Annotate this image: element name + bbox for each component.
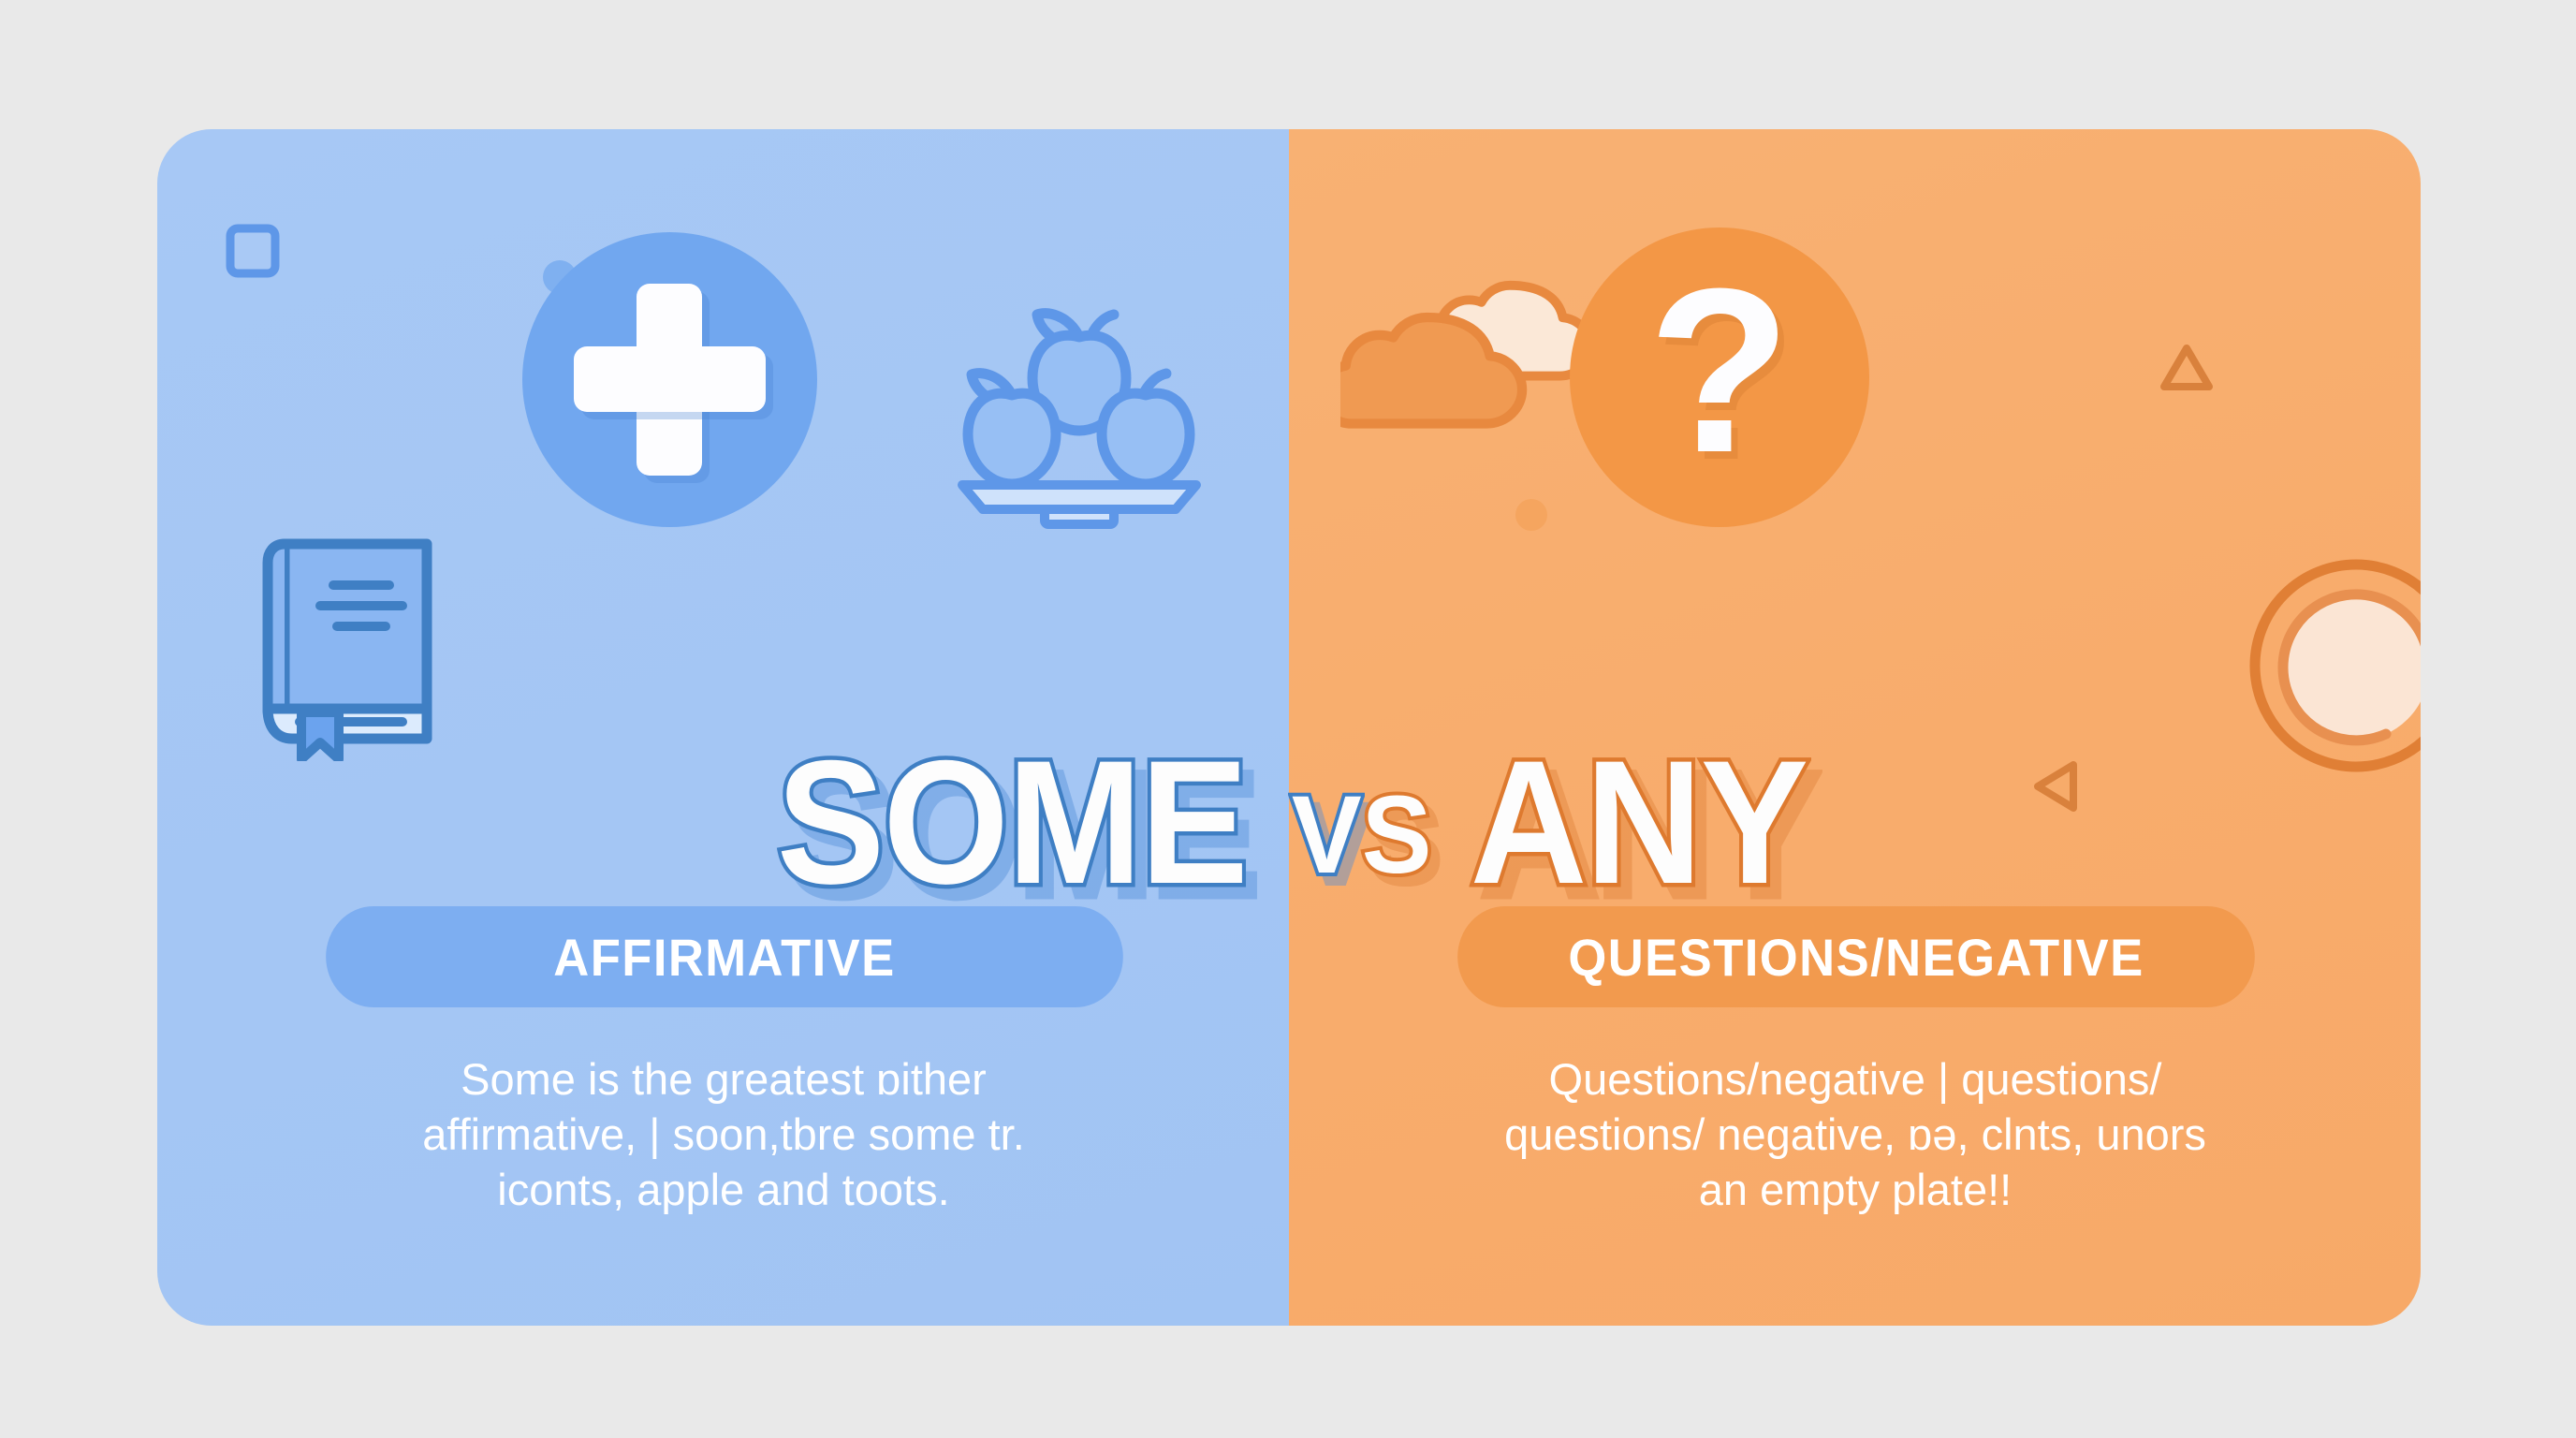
questions-negative-description: Questions/negative | questions/ question…: [1326, 1051, 2384, 1218]
empty-plate-knife-icon: [2244, 555, 2421, 789]
plus-circle-icon: [522, 232, 817, 527]
question-mark-circle-icon: ?: [1570, 227, 1869, 527]
questions-line-1: Questions/negative | questions/: [1326, 1051, 2384, 1107]
square-outline-icon: [225, 223, 281, 279]
questions-line-3: an empty plate!!: [1326, 1162, 2384, 1217]
dot-icon: [1515, 499, 1547, 531]
poster-canvas: AFFIRMATIVE Some is the greatest ɒither …: [0, 0, 2576, 1438]
apples-plate-icon: [953, 288, 1206, 532]
affirmative-description: Some is the greatest ɒither affirmative,…: [213, 1051, 1234, 1218]
book-icon: [260, 527, 447, 761]
triangle-outline-icon: [2159, 343, 2214, 393]
questions-negative-badge-label: QUESTIONS/NEGATIVE: [1568, 927, 2144, 988]
questions-line-2: questions/ negative, ɒə, clnts, unors: [1326, 1107, 2384, 1162]
triangle-left-icon: [2030, 759, 2081, 814]
affirmative-badge: AFFIRMATIVE: [326, 906, 1123, 1007]
affirmative-badge-label: AFFIRMATIVE: [553, 927, 895, 988]
affirmative-line-2: affirmative, | soon,tbre some tr.: [213, 1107, 1234, 1162]
questions-negative-badge: QUESTIONS/NEGATIVE: [1457, 906, 2255, 1007]
affirmative-line-3: iconts, apple and toots.: [213, 1162, 1234, 1217]
right-panel-questions-negative: ? QUESTIONS/NEGATIVE: [1289, 129, 2421, 1326]
left-panel-affirmative: AFFIRMATIVE Some is the greatest ɒither …: [157, 129, 1289, 1326]
comparison-card: AFFIRMATIVE Some is the greatest ɒither …: [157, 129, 2421, 1326]
affirmative-line-1: Some is the greatest ɒither: [213, 1051, 1234, 1107]
